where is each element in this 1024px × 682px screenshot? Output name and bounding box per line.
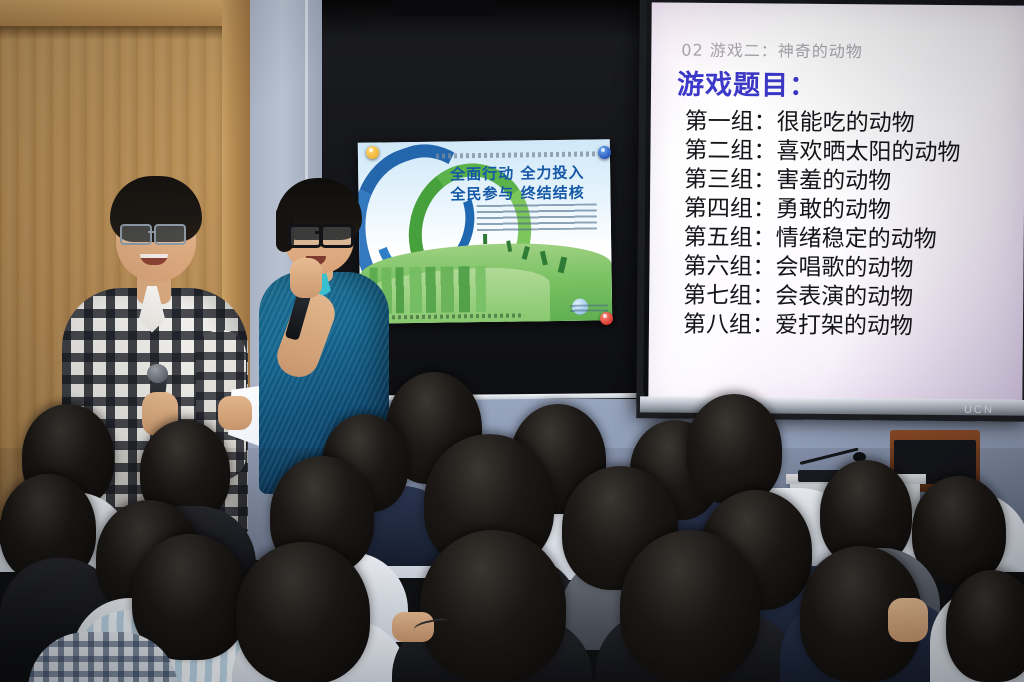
audience-head — [236, 542, 370, 682]
presenter-right-glasses-icon — [320, 224, 354, 248]
audience-head — [946, 570, 1024, 682]
slide-item-list: 第一组：很能吃的动物 第二组：喜欢晒太阳的动物 第三组：害羞的动物 第四组：勇敢… — [661, 107, 1024, 342]
audience-head — [620, 530, 760, 682]
slide-eyebrow: 02 游戏二：神奇的动物 — [681, 37, 1024, 64]
ceiling-fixture — [392, 0, 496, 16]
presentation-photo-scene: 02 游戏二：神奇的动物 游戏题目： 第一组：很能吃的动物 第二组：喜欢晒太阳的… — [0, 0, 1024, 682]
poster-body-text — [477, 203, 597, 231]
presenter-right-hand — [290, 258, 322, 298]
slide-list-item: 第五组：情绪稳定的动物 — [684, 224, 1024, 256]
presenter-left-glasses-bridge — [148, 231, 156, 233]
slide-list-item: 第七组：会表演的动物 — [683, 282, 1023, 314]
presenter-right-glasses-bridge — [315, 231, 322, 234]
slide-list-item: 第二组：喜欢晒太阳的动物 — [684, 137, 1024, 169]
presenter-left-glasses-icon — [120, 224, 152, 245]
presenter-left-second-hand — [218, 396, 252, 430]
slide-list-item: 第四组：勇敢的动物 — [684, 195, 1024, 227]
presentation-slide: 02 游戏二：神奇的动物 游戏题目： 第一组：很能吃的动物 第二组：喜欢晒太阳的… — [661, 36, 1024, 369]
wood-wall-shadow — [0, 26, 222, 40]
slide-list-item: 第三组：害羞的动物 — [684, 166, 1024, 198]
audience-head — [686, 394, 782, 504]
audience-hand — [888, 598, 928, 642]
slide-list-item: 第六组：会唱歌的动物 — [683, 253, 1023, 285]
presenter-right-glasses-icon — [288, 224, 322, 248]
slide-title: 游戏题目： — [677, 63, 1024, 105]
poster-runner-icon — [483, 234, 487, 244]
audience-head — [420, 530, 566, 682]
screen-brand-label: UCN — [964, 404, 994, 416]
pin-red-icon — [600, 312, 613, 325]
pin-blue-icon — [598, 146, 611, 159]
presenter-left-glasses-icon — [154, 224, 186, 245]
poster-headline-line2: 全民参与 终结结核 — [450, 182, 585, 205]
slide-list-item: 第一组：很能吃的动物 — [685, 108, 1024, 140]
wood-frame-top-rail — [0, 0, 250, 26]
wall-poster: 全面行动 全力投入 全民参与 终结结核 — [358, 139, 613, 324]
pin-yellow-icon — [366, 146, 379, 159]
slide-list-item: 第八组：爱打架的动物 — [683, 311, 1023, 343]
